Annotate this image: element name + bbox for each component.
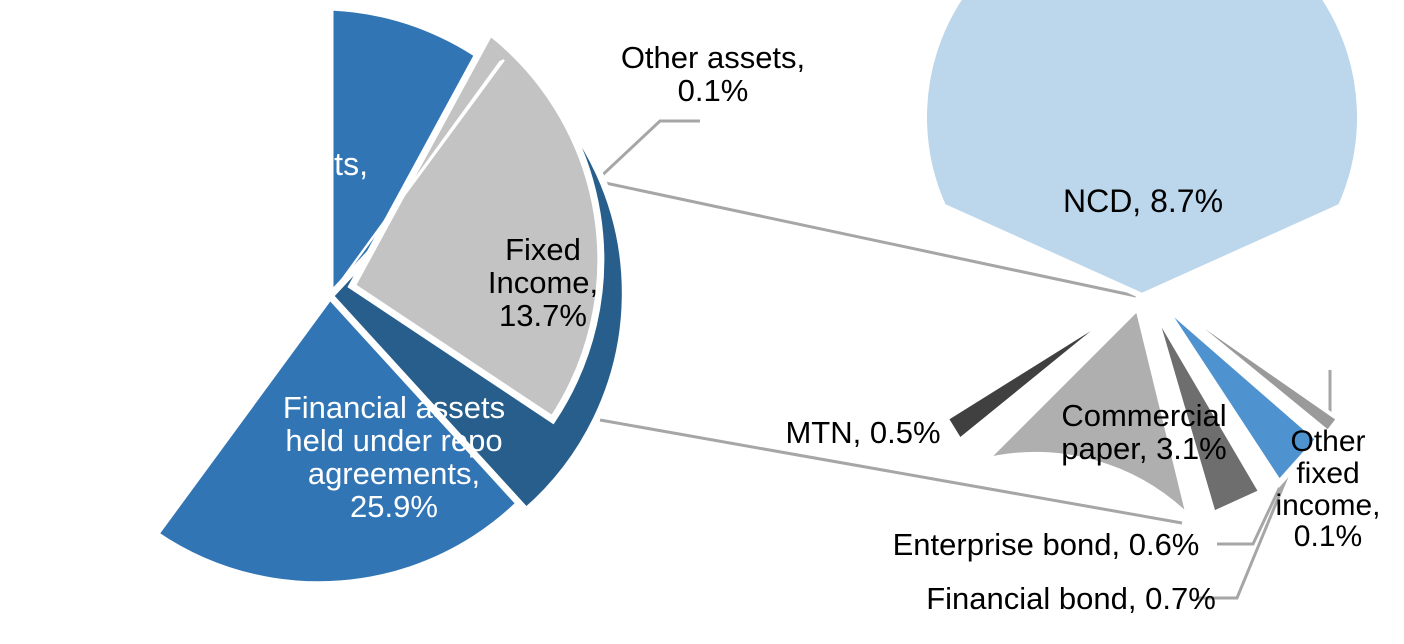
pie-of-pie-chart: Bank deposits, 60.3% Financial assets he… [0,0,1404,644]
chart-svg [0,0,1404,644]
leader-line-other-assets [596,121,700,181]
secondary-pie [924,0,1360,519]
slice-ncd[interactable] [924,0,1360,296]
main-pie [155,7,650,585]
